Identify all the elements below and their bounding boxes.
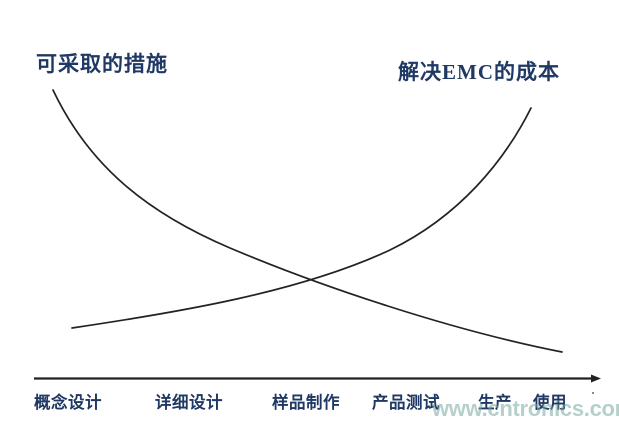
x-axis-tick-labels: 概念设计 详细设计 样品制作 产品测试 生产 使用 xyxy=(0,389,619,419)
series-label-cost: 解决EMC的成本 xyxy=(398,56,560,86)
series-label-mitigation: 可采取的措施 xyxy=(36,48,168,78)
curve-mitigation xyxy=(53,90,562,352)
x-tick-label-0: 概念设计 xyxy=(34,389,102,413)
watermark-dot xyxy=(592,392,594,394)
x-tick-label-2: 样品制作 xyxy=(272,389,340,413)
x-tick-label-3: 产品测试 xyxy=(372,389,440,413)
curve-cost xyxy=(72,108,531,328)
x-tick-label-1: 详细设计 xyxy=(155,389,223,413)
x-tick-label-4: 生产 xyxy=(478,389,512,413)
chart-canvas: 可采取的措施 解决EMC的成本 概念设计 详细设计 样品制作 产品测试 生产 使… xyxy=(0,0,619,425)
x-tick-label-5: 使用 xyxy=(533,389,567,413)
